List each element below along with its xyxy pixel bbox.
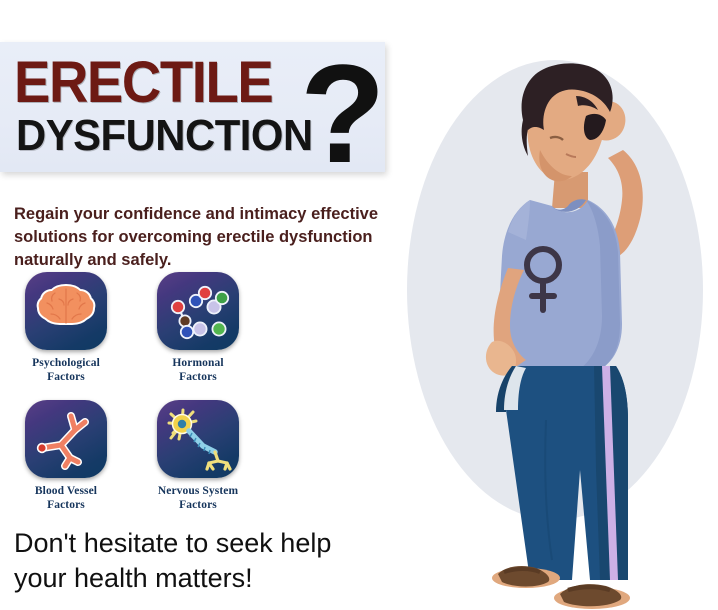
neuron-icon (157, 400, 239, 478)
headline-banner: ERECTILE DYSFUNCTION ? (0, 42, 385, 172)
left-content-column: ERECTILE DYSFUNCTION ? Regain your confi… (0, 0, 430, 610)
factor-tile-hormonal (157, 272, 239, 350)
factor-tile-nervous-system (157, 400, 239, 478)
factor-label-line2: Factors (179, 371, 217, 383)
headline-secondary-text: DYSFUNCTION (16, 114, 313, 158)
factor-label-hormonal: Hormonal Factors (172, 356, 223, 384)
factor-tile-psychological (25, 272, 107, 350)
headline-primary-text: ERECTILE (14, 54, 272, 112)
factor-label-line2: Factors (179, 499, 217, 511)
factor-label-line2: Factors (47, 371, 85, 383)
call-to-action-text: Don't hesitate to seek help your health … (14, 526, 414, 595)
factor-row-bottom: Blood Vessel Factors (22, 400, 282, 512)
factor-grid: Psychological Factors (22, 272, 282, 512)
lead-paragraph: Regain your confidence and intimacy effe… (14, 203, 426, 273)
factor-label-nervous-system: Nervous System Factors (158, 484, 238, 512)
cta-line1: Don't hesitate to seek help (14, 528, 331, 558)
factor-item-psychological[interactable]: Psychological Factors (22, 272, 110, 384)
factor-item-blood-vessel[interactable]: Blood Vessel Factors (22, 400, 110, 512)
factor-label-blood-vessel: Blood Vessel Factors (35, 484, 97, 512)
sandal-right (554, 584, 630, 609)
factor-label-psychological: Psychological Factors (32, 356, 100, 384)
molecules-icon (157, 272, 239, 350)
factor-label-line1: Hormonal (172, 357, 223, 369)
factor-label-line1: Blood Vessel (35, 485, 97, 497)
factor-label-line1: Nervous System (158, 485, 238, 497)
worried-man-illustration (380, 0, 718, 610)
question-mark-icon: ? (300, 44, 382, 184)
factor-label-line2: Factors (47, 499, 85, 511)
illustration-panel (380, 0, 718, 610)
factor-tile-blood-vessel (25, 400, 107, 478)
factor-item-hormonal[interactable]: Hormonal Factors (154, 272, 242, 384)
factor-row-top: Psychological Factors (22, 272, 282, 384)
blood-vessel-icon (25, 400, 107, 478)
poster-canvas: ERECTILE DYSFUNCTION ? Regain your confi… (0, 0, 718, 610)
factor-item-nervous-system[interactable]: Nervous System Factors (154, 400, 242, 512)
brain-icon (25, 272, 107, 350)
factor-label-line1: Psychological (32, 357, 100, 369)
cta-line2: your health matters! (14, 563, 253, 593)
